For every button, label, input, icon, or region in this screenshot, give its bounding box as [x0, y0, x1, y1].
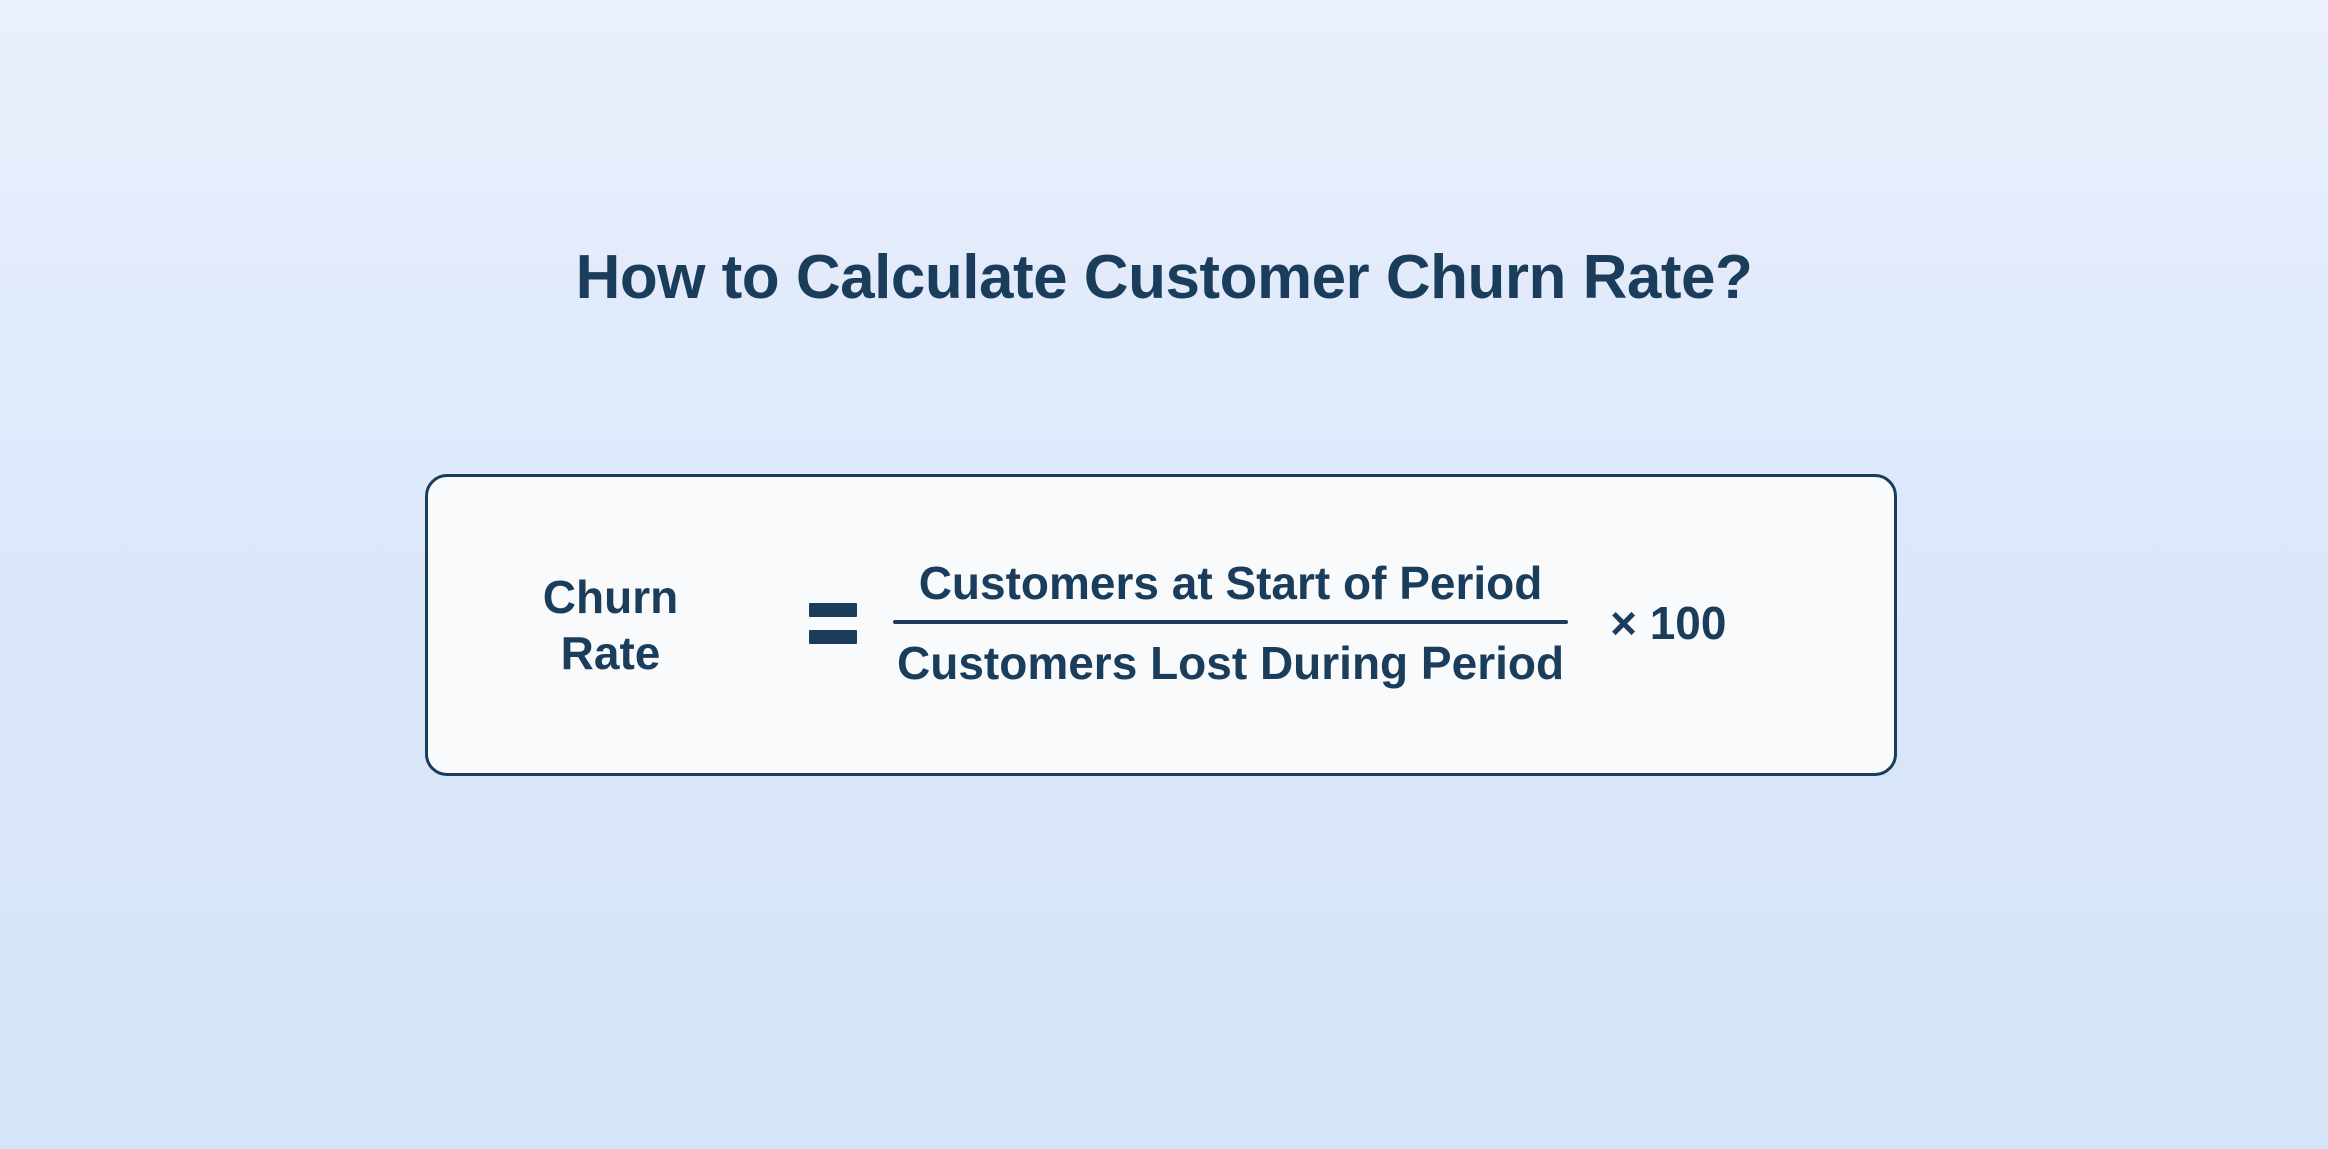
formula-left-label-line1: Churn: [543, 569, 678, 625]
formula-row: Churn Rate Customers at Start of Period …: [428, 477, 1894, 773]
fraction-numerator: Customers at Start of Period: [905, 560, 1557, 620]
equals-bar-bottom: [809, 630, 857, 644]
formula-left-label-line2: Rate: [561, 625, 661, 681]
equals-sign: [773, 603, 893, 644]
formula-left-label: Churn Rate: [428, 569, 773, 681]
page-title: How to Calculate Customer Churn Rate?: [0, 242, 2328, 313]
equals-glyph: [809, 603, 857, 644]
infographic-page: How to Calculate Customer Churn Rate? Ch…: [0, 0, 2328, 1149]
equals-bar-top: [809, 603, 857, 617]
fraction: Customers at Start of Period Customers L…: [893, 560, 1568, 686]
multiplier-times-100: × 100: [1568, 600, 1726, 646]
formula-card: Churn Rate Customers at Start of Period …: [425, 474, 1897, 776]
fraction-denominator: Customers Lost During Period: [893, 624, 1568, 686]
